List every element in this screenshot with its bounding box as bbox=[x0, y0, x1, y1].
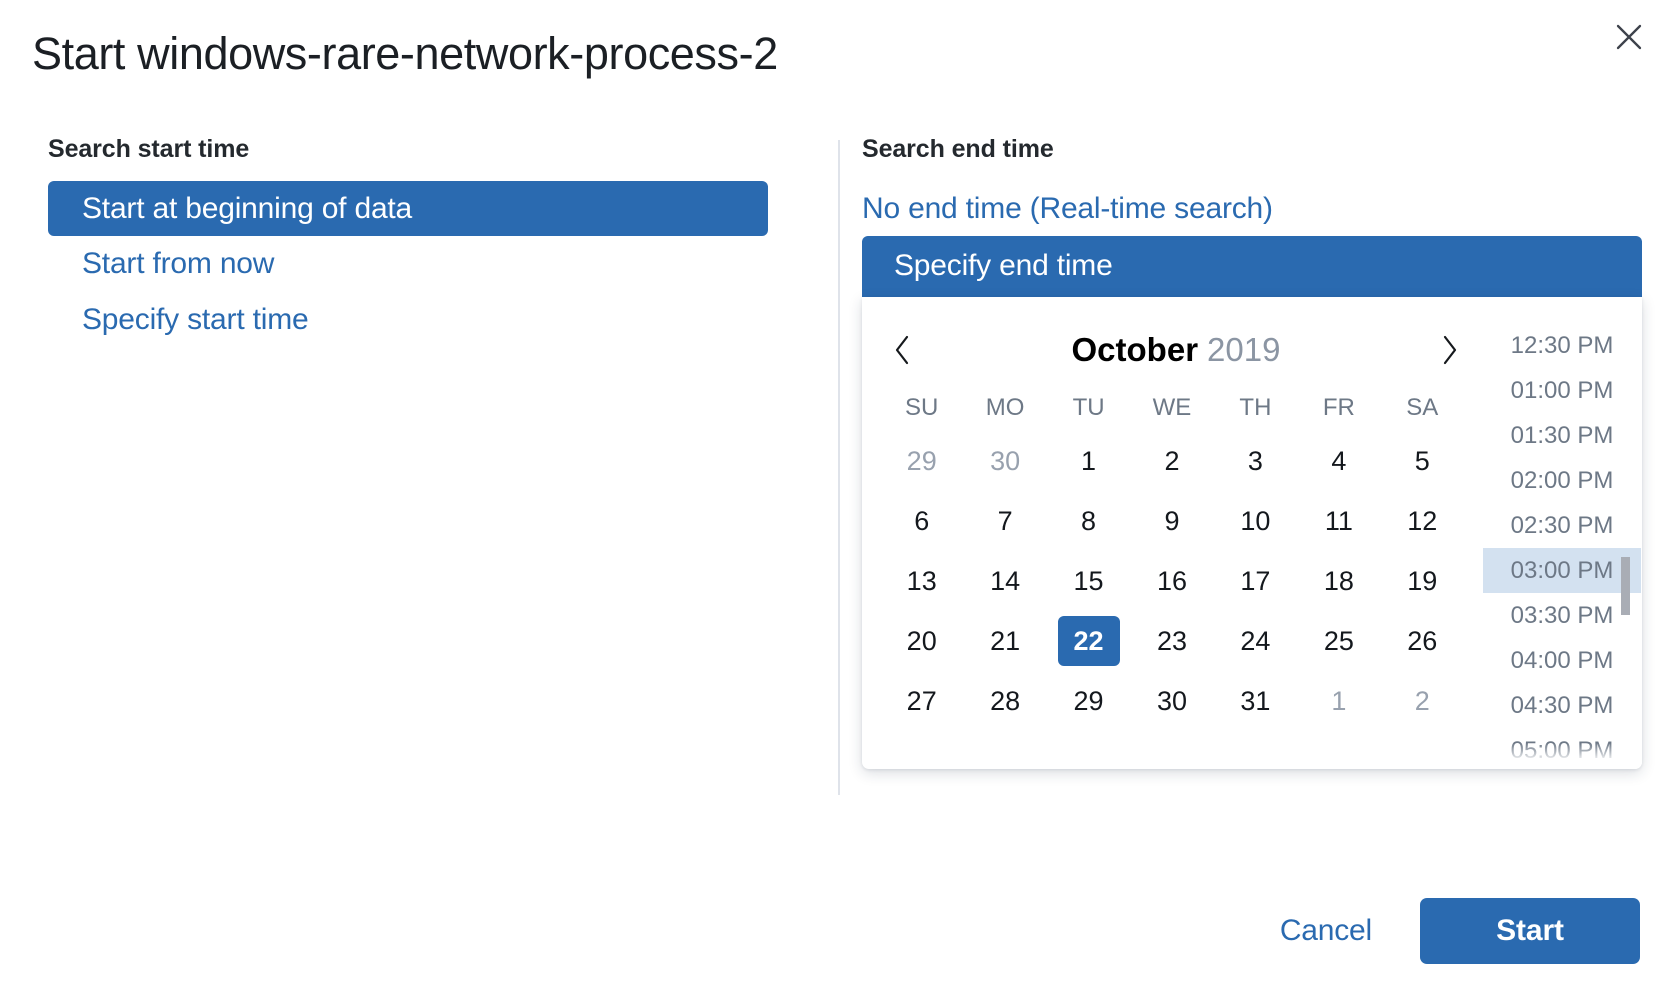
calendar-day-label: 14 bbox=[974, 556, 1036, 606]
calendar-day-label: 12 bbox=[1391, 496, 1453, 546]
calendar-day[interactable]: 4 bbox=[1297, 431, 1380, 491]
time-option[interactable]: 01:00 PM bbox=[1483, 368, 1641, 413]
calendar-day[interactable]: 1 bbox=[1297, 671, 1380, 731]
page-title: Start windows-rare-network-process-2 bbox=[32, 28, 778, 80]
calendar-day[interactable]: 12 bbox=[1381, 491, 1464, 551]
time-option[interactable]: 12:30 PM bbox=[1483, 323, 1641, 368]
calendar-day[interactable]: 16 bbox=[1130, 551, 1213, 611]
time-list[interactable]: 12:30 PM01:00 PM01:30 PM02:00 PM02:30 PM… bbox=[1482, 297, 1642, 769]
calendar-day[interactable]: 6 bbox=[880, 491, 963, 551]
start-option-specify-start-time-label: Specify start time bbox=[82, 303, 308, 336]
search-end-time-heading: Search end time bbox=[862, 135, 1642, 164]
search-end-time-panel: Search end time No end time (Real-time s… bbox=[862, 135, 1642, 769]
search-start-time-heading: Search start time bbox=[48, 135, 808, 164]
calendar-day-label: 26 bbox=[1391, 616, 1453, 666]
calendar-day[interactable]: 9 bbox=[1130, 491, 1213, 551]
chevron-right-icon-glyph bbox=[1440, 334, 1460, 366]
calendar-day-label: 28 bbox=[974, 676, 1036, 726]
weekday-label: MO bbox=[963, 385, 1046, 431]
calendar-day[interactable]: 20 bbox=[880, 611, 963, 671]
calendar-day-label: 13 bbox=[891, 556, 953, 606]
calendar-day-label: 25 bbox=[1308, 616, 1370, 666]
calendar-day-label: 30 bbox=[974, 436, 1036, 486]
calendar-day-selected[interactable]: 22 bbox=[1047, 611, 1130, 671]
calendar-title: October2019 bbox=[924, 331, 1428, 369]
calendar-day[interactable]: 1 bbox=[1047, 431, 1130, 491]
weekday-label: TU bbox=[1047, 385, 1130, 431]
calendar-week-row: 272829303112 bbox=[862, 671, 1482, 731]
calendar-day-label: 5 bbox=[1391, 436, 1453, 486]
calendar-day-label: 3 bbox=[1224, 436, 1286, 486]
calendar-day[interactable]: 10 bbox=[1214, 491, 1297, 551]
calendar-month: October bbox=[1072, 331, 1199, 368]
calendar-week-row: 20212223242526 bbox=[862, 611, 1482, 671]
calendar-day-label: 7 bbox=[974, 496, 1036, 546]
calendar-day-label: 1 bbox=[1058, 436, 1120, 486]
time-option[interactable]: 02:30 PM bbox=[1483, 503, 1641, 548]
end-option-no-end-time[interactable]: No end time (Real-time search) bbox=[828, 181, 1608, 236]
calendar-day[interactable]: 24 bbox=[1214, 611, 1297, 671]
weekday-label: TH bbox=[1214, 385, 1297, 431]
calendar-day-label: 24 bbox=[1224, 616, 1286, 666]
calendar-day[interactable]: 29 bbox=[880, 431, 963, 491]
calendar-day-label: 4 bbox=[1308, 436, 1370, 486]
calendar-day-label: 19 bbox=[1391, 556, 1453, 606]
start-option-from-now[interactable]: Start from now bbox=[48, 236, 768, 291]
calendar-weeks: 2930123456789101112131415161718192021222… bbox=[862, 431, 1482, 731]
start-search-dialog: Start windows-rare-network-process-2 Sea… bbox=[0, 0, 1666, 994]
calendar-week-row: 13141516171819 bbox=[862, 551, 1482, 611]
calendar-day[interactable]: 30 bbox=[963, 431, 1046, 491]
start-button[interactable]: Start bbox=[1420, 898, 1640, 964]
calendar-day-label: 15 bbox=[1058, 556, 1120, 606]
calendar-day[interactable]: 19 bbox=[1381, 551, 1464, 611]
calendar-day-label: 2 bbox=[1141, 436, 1203, 486]
weekday-label: SU bbox=[880, 385, 963, 431]
time-option-selected[interactable]: 03:00 PM bbox=[1483, 548, 1641, 593]
time-option[interactable]: 01:30 PM bbox=[1483, 413, 1641, 458]
start-option-beginning-of-data-label: Start at beginning of data bbox=[82, 192, 412, 225]
calendar-week-row: 6789101112 bbox=[862, 491, 1482, 551]
calendar-day[interactable]: 15 bbox=[1047, 551, 1130, 611]
time-option[interactable]: 04:00 PM bbox=[1483, 638, 1641, 683]
calendar-day[interactable]: 5 bbox=[1381, 431, 1464, 491]
calendar-day-label: 29 bbox=[1058, 676, 1120, 726]
start-option-beginning-of-data[interactable]: Start at beginning of data bbox=[48, 181, 768, 236]
time-option[interactable]: 03:30 PM bbox=[1483, 593, 1641, 638]
column-divider bbox=[838, 140, 840, 795]
calendar-day-label: 23 bbox=[1141, 616, 1203, 666]
calendar: October2019 SU MO TU WE TH bbox=[862, 297, 1482, 769]
calendar-day[interactable]: 23 bbox=[1130, 611, 1213, 671]
calendar-day[interactable]: 25 bbox=[1297, 611, 1380, 671]
calendar-year: 2019 bbox=[1207, 331, 1280, 368]
calendar-day-label: 17 bbox=[1224, 556, 1286, 606]
calendar-day-label: 21 bbox=[974, 616, 1036, 666]
calendar-day[interactable]: 14 bbox=[963, 551, 1046, 611]
calendar-day-label: 20 bbox=[891, 616, 953, 666]
calendar-day-label: 9 bbox=[1141, 496, 1203, 546]
calendar-day[interactable]: 18 bbox=[1297, 551, 1380, 611]
calendar-day[interactable]: 28 bbox=[963, 671, 1046, 731]
calendar-day-label: 22 bbox=[1058, 616, 1120, 666]
weekday-label: FR bbox=[1297, 385, 1380, 431]
chevron-left-icon[interactable] bbox=[880, 328, 924, 372]
calendar-day-label: 29 bbox=[891, 436, 953, 486]
close-icon[interactable] bbox=[1606, 14, 1652, 60]
chevron-left-icon-glyph bbox=[892, 334, 912, 366]
datetime-picker: October2019 SU MO TU WE TH bbox=[862, 297, 1642, 769]
time-option[interactable]: 02:00 PM bbox=[1483, 458, 1641, 503]
calendar-day[interactable]: 31 bbox=[1214, 671, 1297, 731]
calendar-day[interactable]: 27 bbox=[880, 671, 963, 731]
calendar-day-label: 27 bbox=[891, 676, 953, 726]
calendar-day[interactable]: 26 bbox=[1381, 611, 1464, 671]
time-list-scrollbar-track[interactable] bbox=[1621, 323, 1630, 769]
calendar-day-label: 1 bbox=[1308, 676, 1370, 726]
calendar-day[interactable]: 7 bbox=[963, 491, 1046, 551]
close-icon-glyph bbox=[1615, 23, 1643, 51]
time-option[interactable]: 05:00 PM bbox=[1483, 728, 1641, 769]
calendar-day-label: 8 bbox=[1058, 496, 1120, 546]
calendar-day-label: 10 bbox=[1224, 496, 1286, 546]
start-option-specify-start-time[interactable]: Specify start time bbox=[48, 292, 768, 347]
cancel-button[interactable]: Cancel bbox=[1276, 908, 1376, 954]
time-list-scrollbar-thumb[interactable] bbox=[1621, 557, 1630, 615]
calendar-day-label: 2 bbox=[1391, 676, 1453, 726]
search-start-time-panel: Search start time Start at beginning of … bbox=[48, 135, 808, 347]
end-option-specify-end-time[interactable]: Specify end time bbox=[862, 236, 1642, 297]
calendar-day-label: 30 bbox=[1141, 676, 1203, 726]
weekday-label: WE bbox=[1130, 385, 1213, 431]
calendar-day[interactable]: 2 bbox=[1130, 431, 1213, 491]
calendar-day-label: 11 bbox=[1308, 496, 1370, 546]
weekday-label: SA bbox=[1381, 385, 1464, 431]
calendar-day[interactable]: 30 bbox=[1130, 671, 1213, 731]
end-option-specify-end-time-label: Specify end time bbox=[894, 249, 1113, 282]
calendar-day-label: 18 bbox=[1308, 556, 1370, 606]
dialog-footer: Cancel Start bbox=[1276, 898, 1640, 964]
calendar-header: October2019 bbox=[862, 319, 1482, 381]
chevron-right-icon[interactable] bbox=[1428, 328, 1472, 372]
calendar-day[interactable]: 2 bbox=[1381, 671, 1464, 731]
calendar-weekday-row: SU MO TU WE TH FR SA bbox=[862, 385, 1482, 431]
calendar-day-label: 16 bbox=[1141, 556, 1203, 606]
time-option[interactable]: 04:30 PM bbox=[1483, 683, 1641, 728]
calendar-day[interactable]: 21 bbox=[963, 611, 1046, 671]
calendar-week-row: 293012345 bbox=[862, 431, 1482, 491]
calendar-day[interactable]: 11 bbox=[1297, 491, 1380, 551]
calendar-day-label: 6 bbox=[891, 496, 953, 546]
calendar-day[interactable]: 17 bbox=[1214, 551, 1297, 611]
calendar-day-label: 31 bbox=[1224, 676, 1286, 726]
calendar-day[interactable]: 3 bbox=[1214, 431, 1297, 491]
start-option-from-now-label: Start from now bbox=[82, 247, 274, 280]
end-option-no-end-time-label: No end time (Real-time search) bbox=[862, 192, 1273, 225]
calendar-day[interactable]: 29 bbox=[1047, 671, 1130, 731]
calendar-day[interactable]: 13 bbox=[880, 551, 963, 611]
calendar-day[interactable]: 8 bbox=[1047, 491, 1130, 551]
